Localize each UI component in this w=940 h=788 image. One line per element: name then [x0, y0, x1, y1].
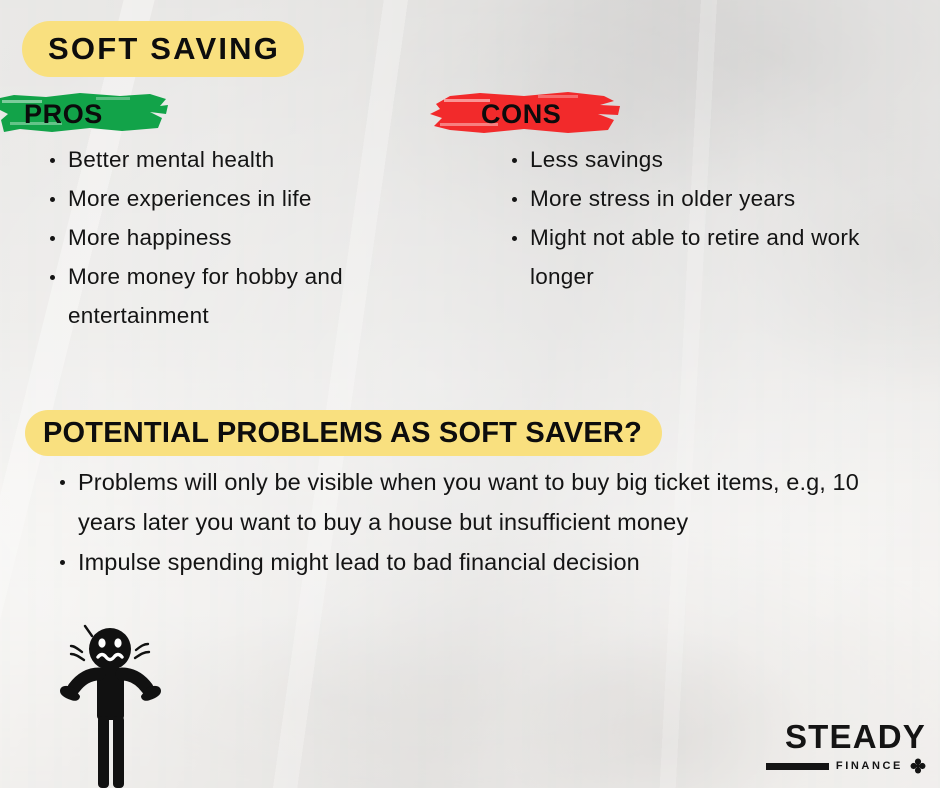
logo-subrow: FINANCE — [766, 758, 926, 774]
problems-list: Problems will only be visible when you w… — [56, 462, 906, 582]
clover-icon — [910, 758, 926, 774]
page-title: SOFT SAVING — [22, 21, 304, 77]
infographic-poster: SOFT SAVING PROS CONS Better mental hea — [0, 0, 940, 788]
list-item: Impulse spending might lead to bad finan… — [56, 542, 906, 582]
list-item: More happiness — [44, 218, 464, 257]
list-item: Better mental health — [44, 140, 464, 179]
logo-subtitle: FINANCE — [836, 761, 903, 772]
logo-wordmark: STEADY — [766, 720, 926, 753]
list-item: Problems will only be visible when you w… — [56, 462, 906, 542]
cons-header-label: CONS — [428, 90, 628, 130]
list-item: More money for hobby and entertainment — [44, 257, 464, 335]
problems-heading: POTENTIAL PROBLEMS AS SOFT SAVER? — [25, 410, 662, 456]
list-item: Might not able to retire and work longer — [506, 218, 926, 296]
cons-header: CONS — [428, 90, 628, 136]
pros-list: Better mental health More experiences in… — [44, 140, 464, 335]
list-item: More experiences in life — [44, 179, 464, 218]
pros-header-label: PROS — [0, 90, 178, 130]
confused-stick-figure-icon — [52, 618, 172, 788]
pros-header: PROS — [0, 90, 178, 136]
list-item: More stress in older years — [506, 179, 926, 218]
logo-rule — [766, 763, 829, 770]
list-item: Less savings — [506, 140, 926, 179]
brand-logo: STEADY FINANCE — [766, 720, 926, 774]
cons-list: Less savings More stress in older years … — [506, 140, 926, 296]
